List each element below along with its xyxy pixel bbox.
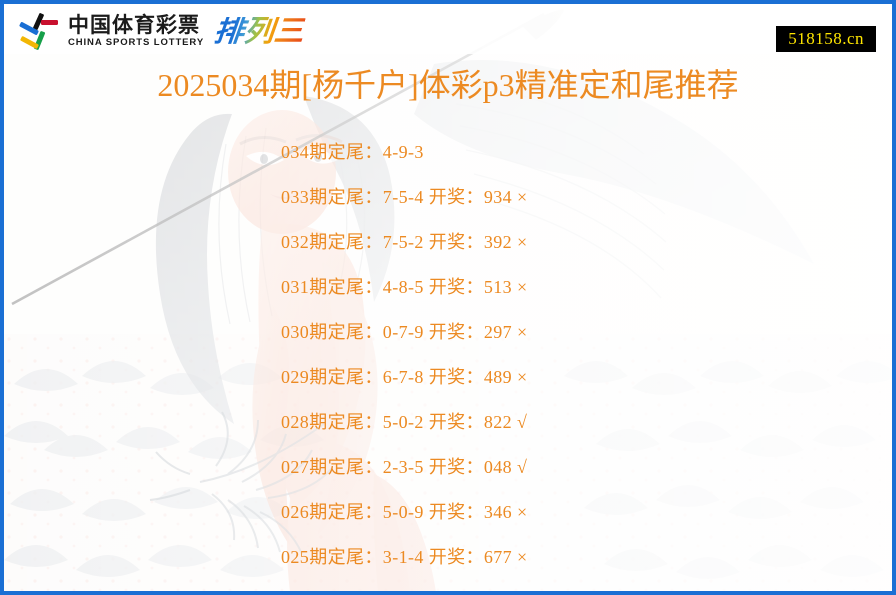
prediction-row: 031期定尾：4-8-5 开奖：513 × xyxy=(281,265,528,310)
prediction-row: 034期定尾：4-9-3 xyxy=(281,130,528,175)
prediction-row: 030期定尾：0-7-9 开奖：297 × xyxy=(281,310,528,355)
lottery-prediction-image: 中国体育彩票 CHINA SPORTS LOTTERY 排列三 518158.c… xyxy=(0,0,896,595)
logo-wordmark: 中国体育彩票 CHINA SPORTS LOTTERY xyxy=(68,15,204,48)
prediction-row: 033期定尾：7-5-4 开奖：934 × xyxy=(281,175,528,220)
prediction-list: 034期定尾：4-9-3 033期定尾：7-5-4 开奖：934 × 032期定… xyxy=(281,130,528,580)
page-title: 2025034期[杨千户]体彩p3精准定和尾推荐 xyxy=(4,66,892,104)
site-logo[interactable]: 中国体育彩票 CHINA SPORTS LOTTERY 排列三 xyxy=(18,12,304,52)
prediction-row: 029期定尾：6-7-8 开奖：489 × xyxy=(281,355,528,400)
logo-game-brand: 排列三 xyxy=(212,17,305,47)
prediction-row: 026期定尾：5-0-9 开奖：346 × xyxy=(281,490,528,535)
logo-chinese-name: 中国体育彩票 xyxy=(68,15,204,37)
prediction-row: 025期定尾：3-1-4 开奖：677 × xyxy=(281,535,528,580)
site-watermark: 518158.cn xyxy=(776,26,876,52)
prediction-row: 028期定尾：5-0-2 开奖：822 √ xyxy=(281,400,528,445)
header: 中国体育彩票 CHINA SPORTS LOTTERY 排列三 518158.c… xyxy=(4,8,892,56)
china-sports-lottery-logo-icon xyxy=(18,12,60,52)
prediction-row: 027期定尾：2-3-5 开奖：048 √ xyxy=(281,445,528,490)
logo-english-name: CHINA SPORTS LOTTERY xyxy=(68,38,204,48)
logo-bar-yellow xyxy=(20,36,39,49)
prediction-row: 032期定尾：7-5-2 开奖：392 × xyxy=(281,220,528,265)
logo-bar-red xyxy=(41,20,58,25)
